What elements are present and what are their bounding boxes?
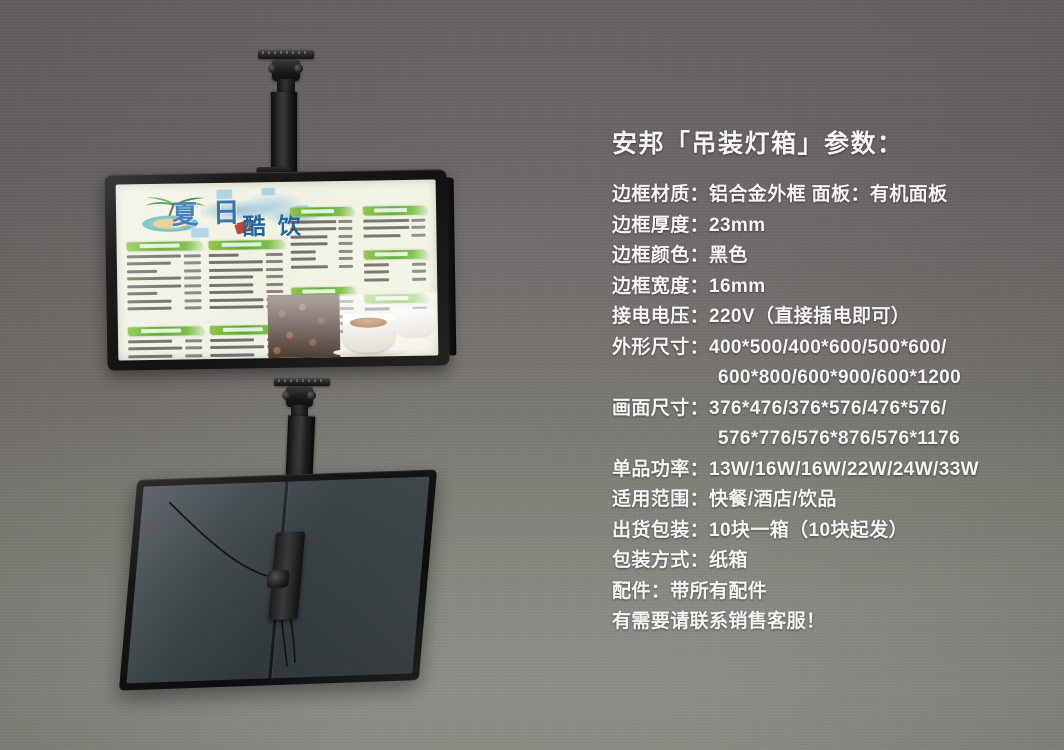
menu-item-row [128,345,204,352]
spec-line: 画面尺寸：376*476/376*576/476*576/ [612,394,1050,425]
menu-section [363,250,427,284]
menu-item-row [127,267,203,274]
spec-line: 包装方式：纸箱 [612,546,1050,577]
menu-item-row [127,297,203,304]
menu-item-row [210,358,286,360]
light-box-rear-panel[interactable] [119,469,437,690]
coffee-photo-fade [268,292,439,358]
menu-item-row [290,248,354,255]
menu-item-row [126,252,202,259]
spec-line: 有需要请联系销售客服！ [612,607,1050,638]
menu-section-header [208,240,284,250]
menu-section [363,206,427,240]
menu-section-header [290,207,354,217]
power-cable-upper [162,498,283,582]
specification-text-block: 安邦「吊装灯箱」参数： 边框材质：铝合金外框 面板：有机面板边框厚度：23mm边… [612,124,1050,638]
swivel-bolt-right-upper [294,64,303,73]
menu-item-row [127,282,203,289]
menu-item-row [127,275,203,282]
menu-item-row [364,276,428,283]
menu-column-3 [290,207,354,208]
ice-cube-icon [261,187,276,196]
menu-item-row [291,255,355,262]
menu-item-row [363,224,427,231]
spec-line: 576*776/576*876/576*1176 [612,424,1050,455]
menu-item-row [209,258,285,265]
menu-item-row [128,352,204,359]
menu-item-row [290,225,354,232]
swivel-bolt-left-upper [268,64,277,73]
menu-item-row [290,218,354,225]
menu-item-row [363,217,427,224]
menu-item-row [128,360,204,361]
hanging-light-box[interactable]: 夏 日 酷 饮 [104,169,449,370]
spec-line: 边框材质：铝合金外框 面板：有机面板 [612,180,1050,211]
menu-column-4 [363,206,427,207]
rear-panel-frame [119,469,437,690]
mount-neck-upper [277,79,295,93]
swivel-bolt-left-lower [282,391,291,400]
menu-section [127,326,204,360]
poster-watermark: www.alibaba.com [279,351,315,357]
swivel-bolt-right-lower [307,391,316,400]
poster-title-char-2: 日 [213,200,239,227]
menu-section-header [363,206,427,216]
spec-line: 600*800/600*900/600*1200 [612,363,1050,394]
menu-item-row [290,240,354,247]
spec-line-list: 边框材质：铝合金外框 面板：有机面板边框厚度：23mm边框颜色：黑色边框宽度：1… [612,180,1050,638]
menu-item-row [208,251,284,258]
menu-item-row [363,232,427,239]
poster-title-char-3: 酷 [242,215,264,238]
poster-title-char-1: 夏 [172,202,197,228]
mount-plate-lower [274,378,330,386]
menu-column-2 [208,240,284,241]
menu-item-row [128,337,204,344]
product-photo-scene: 夏 日 酷 饮 [0,0,1064,750]
rear-panel-surface [126,477,429,684]
menu-section [290,207,355,271]
menu-item-row [127,305,203,312]
menu-item-row [209,273,285,280]
menu-section-header [363,250,427,260]
menu-item-row [291,263,355,270]
menu-section-header [127,326,203,336]
spec-line: 接电电压：220V（直接插电即可） [612,302,1050,333]
light-box-aluminium-frame: 夏 日 酷 饮 [104,169,449,370]
menu-section-header [126,241,202,251]
menu-item-row [290,233,354,240]
ceiling-plate-upper [258,50,314,59]
spec-line: 适用范围：快餐/酒店/饮品 [612,485,1050,516]
spec-line: 出货包装：10块一箱（10块起发） [612,516,1050,547]
spec-title: 安邦「吊装灯箱」参数： [612,124,1050,160]
menu-poster-artwork: 夏 日 酷 饮 [116,179,439,360]
coffee-photo: www.alibaba.com [268,292,439,358]
spec-line: 单品功率：13W/16W/16W/22W/24W/33W [612,455,1050,486]
menu-item-row [127,290,203,297]
rear-panel-pivot-hub [266,570,290,589]
spec-line: 边框厚度：23mm [612,211,1050,242]
menu-item-row [209,266,285,273]
menu-item-row [364,268,428,275]
menu-item-row [209,281,285,288]
menu-item-row [126,260,202,267]
mount-plate-holes-lower [278,379,326,382]
light-box-panel-face: 夏 日 酷 饮 [116,179,439,360]
menu-section [126,241,203,313]
spec-line: 边框宽度：16mm [612,272,1050,303]
ceiling-plate-holes-upper [262,51,310,54]
menu-item-row [364,261,428,268]
spec-line: 外形尺寸：400*500/400*600/500*600/ [612,333,1050,364]
menu-column-1 [126,241,202,242]
spec-line: 配件：带所有配件 [612,577,1050,608]
spec-line: 边框颜色：黑色 [612,241,1050,272]
